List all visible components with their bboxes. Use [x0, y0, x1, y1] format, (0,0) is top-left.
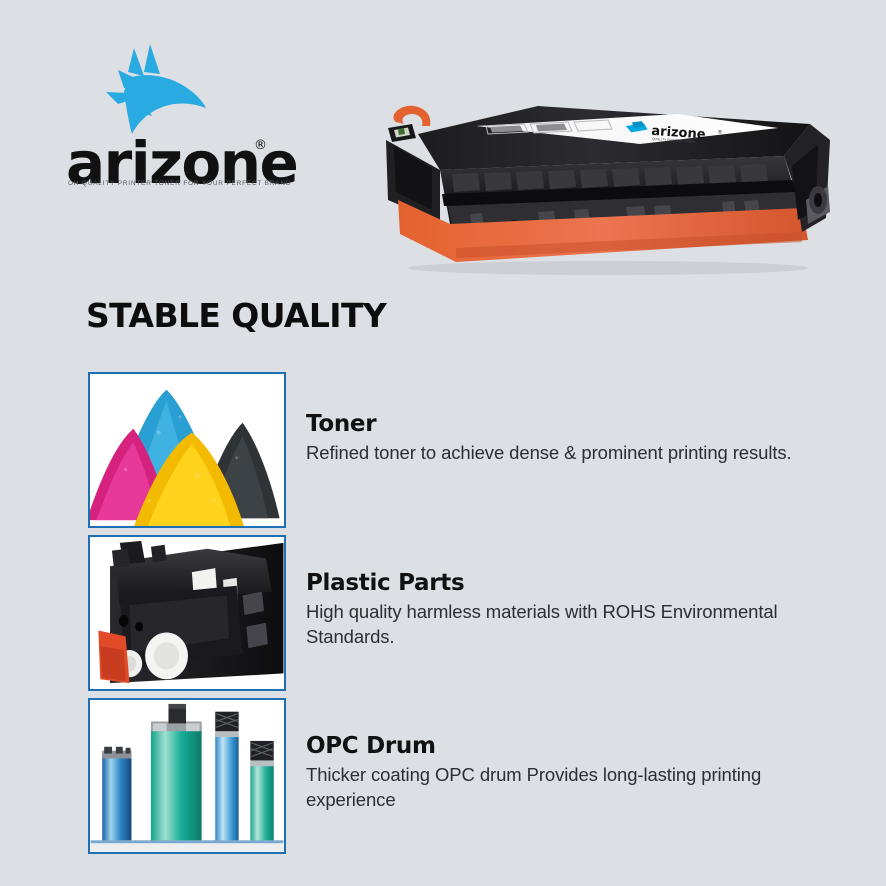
- feature-row-opc-drum: OPC Drum Thicker coating OPC drum Provid…: [88, 698, 848, 861]
- svg-text:®: ®: [717, 128, 722, 135]
- toner-cartridge-image: arizone ® QUALITY PRINTER TONER: [378, 82, 858, 282]
- feature-text-plastic-parts: Plastic Parts High quality harmless mate…: [306, 571, 846, 649]
- feature-text-toner: Toner Refined toner to achieve dense & p…: [306, 412, 846, 466]
- feature-title: Plastic Parts: [306, 571, 846, 596]
- plastic-parts-image: [88, 535, 286, 691]
- feature-row-plastic-parts: Plastic Parts High quality harmless mate…: [88, 535, 848, 698]
- section-title: STABLE QUALITY: [86, 296, 386, 335]
- brand-logo: arizone ® OH QUALITY PRINTER TONER FOR Y…: [66, 42, 281, 197]
- brand-tagline: OH QUALITY PRINTER TONER FOR YOUR PERFEC…: [68, 180, 291, 187]
- registered-mark: ®: [254, 138, 267, 153]
- feature-list: Toner Refined toner to achieve dense & p…: [88, 372, 848, 861]
- header: arizone ® OH QUALITY PRINTER TONER FOR Y…: [0, 0, 886, 285]
- feature-text-opc-drum: OPC Drum Thicker coating OPC drum Provid…: [306, 734, 846, 812]
- feature-description: Refined toner to achieve dense & promine…: [306, 441, 846, 465]
- feature-row-toner: Toner Refined toner to achieve dense & p…: [88, 372, 848, 535]
- feature-description: Thicker coating OPC drum Provides long-l…: [306, 763, 846, 812]
- opc-drum-image: [88, 698, 286, 854]
- blue-bird-icon: [98, 42, 210, 138]
- feature-title: Toner: [306, 412, 846, 437]
- toner-powder-image: [88, 372, 286, 528]
- infographic-page: arizone ® OH QUALITY PRINTER TONER FOR Y…: [0, 0, 886, 886]
- feature-description: High quality harmless materials with ROH…: [306, 600, 846, 649]
- feature-title: OPC Drum: [306, 734, 846, 759]
